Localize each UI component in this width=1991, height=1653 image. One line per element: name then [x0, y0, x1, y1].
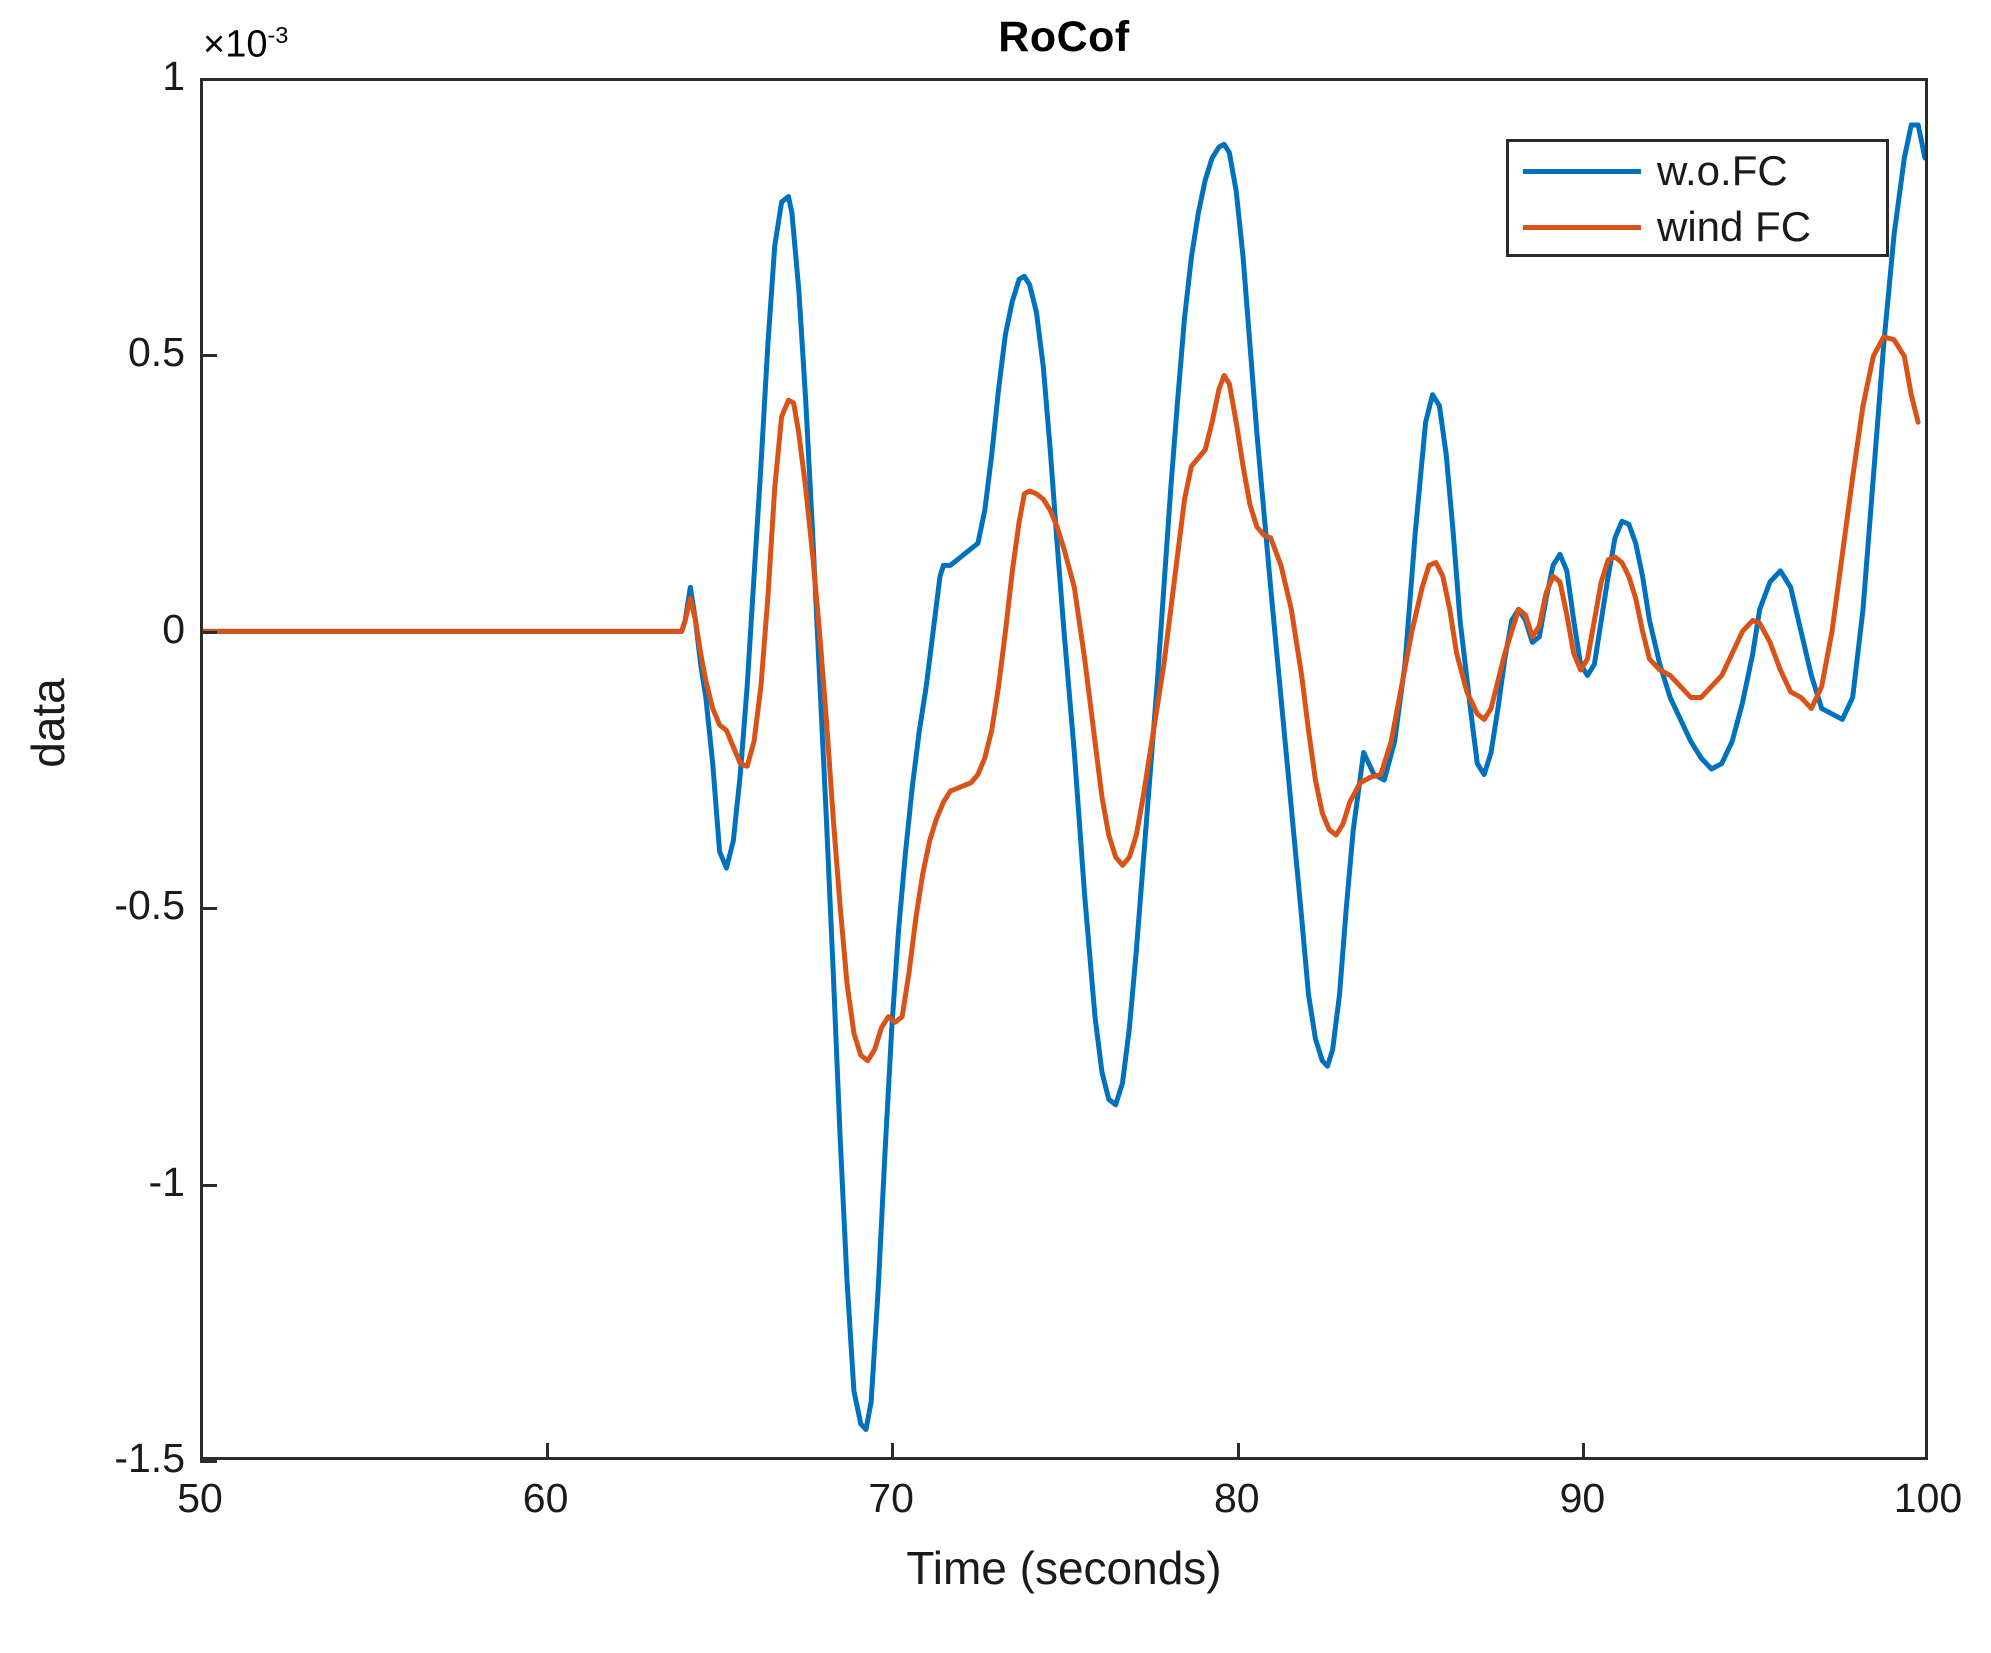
- x-tick-label-0: 50: [177, 1478, 223, 1519]
- series-line-0: [203, 125, 1925, 1429]
- y-tick-mark-4: [200, 1184, 217, 1187]
- y-axis-title: data: [25, 613, 71, 833]
- matlab-figure: RoCof ×10-3 10.50-0.5-1-1.5 506070809010…: [0, 0, 1991, 1653]
- page-title: RoCof: [200, 16, 1928, 59]
- x-tick-label-1: 60: [523, 1478, 569, 1519]
- plot-area: [200, 78, 1928, 1460]
- y-tick-label-5: -1.5: [114, 1438, 185, 1479]
- x-tick-label-4: 90: [1560, 1478, 1606, 1519]
- legend-label-0: w.o.FC: [1657, 150, 1788, 192]
- y-tick-mark-2: [200, 631, 217, 634]
- legend-line-swatch-0: [1523, 169, 1641, 174]
- y-axis-exponent-power: -3: [267, 22, 288, 48]
- series-group: [203, 125, 1925, 1429]
- x-tick-mark-1: [546, 1443, 549, 1460]
- y-tick-label-3: -0.5: [114, 885, 185, 926]
- y-tick-mark-0: [200, 78, 217, 81]
- x-tick-mark-3: [1237, 1443, 1240, 1460]
- legend-item-0[interactable]: w.o.FC: [1509, 146, 1886, 196]
- y-tick-label-1: 0.5: [128, 332, 185, 373]
- x-tick-label-2: 70: [868, 1478, 914, 1519]
- x-axis-title: Time (seconds): [200, 1545, 1928, 1591]
- legend[interactable]: w.o.FC wind FC: [1506, 139, 1889, 257]
- x-tick-mark-4: [1582, 1443, 1585, 1460]
- x-tick-mark-2: [891, 1443, 894, 1460]
- y-tick-mark-1: [200, 354, 217, 357]
- series-line-1: [203, 337, 1918, 1061]
- legend-line-swatch-1: [1523, 225, 1641, 230]
- x-tick-label-3: 80: [1214, 1478, 1260, 1519]
- y-tick-mark-3: [200, 907, 217, 910]
- y-tick-label-2: 0: [162, 609, 185, 650]
- y-axis-exponent-label: ×10-3: [203, 22, 288, 67]
- legend-item-1[interactable]: wind FC: [1509, 202, 1886, 252]
- y-tick-label-0: 1: [162, 56, 185, 97]
- y-tick-label-4: -1: [149, 1162, 185, 1203]
- y-axis-exponent-mantissa: ×10: [203, 24, 267, 66]
- y-tick-mark-5: [200, 1460, 217, 1463]
- plot-svg: [203, 81, 1925, 1457]
- legend-label-1: wind FC: [1657, 206, 1811, 248]
- x-tick-label-5: 100: [1894, 1478, 1962, 1519]
